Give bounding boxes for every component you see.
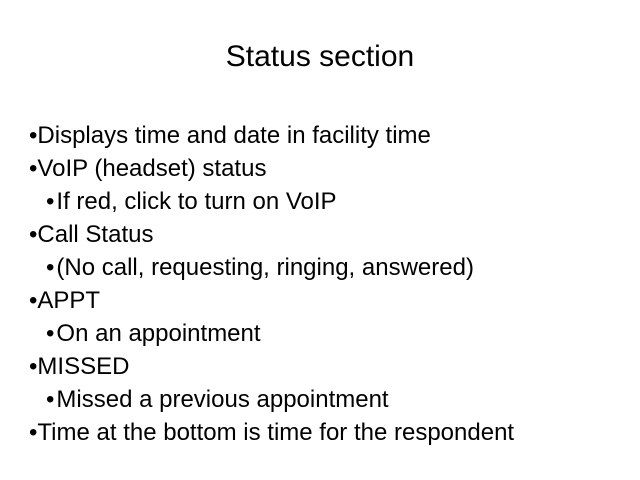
bullet-item: •MISSED: [0, 350, 640, 383]
bullet-item: •APPT: [0, 284, 640, 317]
bullet-point-icon: •: [46, 317, 54, 350]
bullet-item-label: Missed a previous appointment: [56, 386, 388, 413]
bullet-point-icon: •: [46, 251, 54, 284]
bullet-item: •VoIP (headset) status: [0, 152, 640, 185]
bullet-item-label: APPT: [37, 287, 100, 314]
bullet-item-label: Displays time and date in facility time: [37, 122, 431, 149]
page-title: Status section: [0, 40, 640, 74]
bullet-item-label: Call Status: [37, 221, 153, 248]
bullet-list: •Displays time and date in facility time…: [0, 119, 640, 449]
bullet-item: •Call Status: [0, 218, 640, 251]
bullet-item-label: VoIP (headset) status: [37, 155, 266, 182]
bullet-item-label: Time at the bottom is time for the respo…: [37, 419, 514, 446]
bullet-point-icon: •: [46, 383, 54, 416]
bullet-item: •Missed a previous appointment: [0, 383, 640, 416]
bullet-item-label: On an appointment: [56, 320, 260, 347]
bullet-item: •Displays time and date in facility time: [0, 119, 640, 152]
slide-canvas: Status section •Displays time and date i…: [0, 0, 640, 480]
bullet-item: •Time at the bottom is time for the resp…: [0, 416, 640, 449]
bullet-point-icon: •: [46, 185, 54, 218]
bullet-item-label: If red, click to turn on VoIP: [56, 188, 336, 215]
bullet-item-label: MISSED: [37, 353, 129, 380]
bullet-item-label: (No call, requesting, ringing, answered): [56, 254, 474, 281]
bullet-item: •(No call, requesting, ringing, answered…: [0, 251, 640, 284]
bullet-item: •On an appointment: [0, 317, 640, 350]
bullet-item: •If red, click to turn on VoIP: [0, 185, 640, 218]
